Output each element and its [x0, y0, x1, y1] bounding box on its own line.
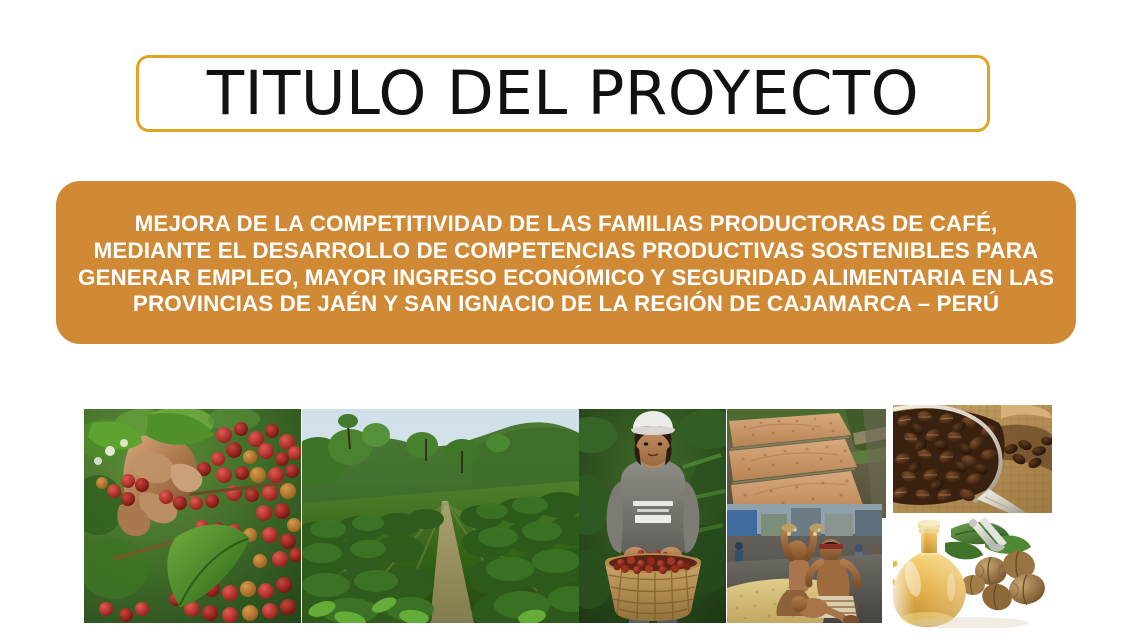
photo-roasted-sack [893, 405, 1052, 513]
photo-drying-beans [727, 409, 886, 518]
photo-harvest-hand [84, 409, 301, 623]
photo-walnut-oil [893, 513, 1050, 628]
photo-village-dry [727, 504, 882, 623]
photo-woman-basket [579, 409, 726, 623]
project-subtitle-text: MEJORA DE LA COMPETITIVIDAD DE LAS FAMIL… [74, 211, 1058, 318]
photo-strip [84, 409, 1052, 623]
project-subtitle-banner: MEJORA DE LA COMPETITIVIDAD DE LAS FAMIL… [56, 181, 1076, 344]
page-title: TITULO DEL PROYECTO [207, 63, 919, 124]
project-title-box: TITULO DEL PROYECTO [136, 55, 990, 132]
photo-plantation [302, 409, 579, 623]
